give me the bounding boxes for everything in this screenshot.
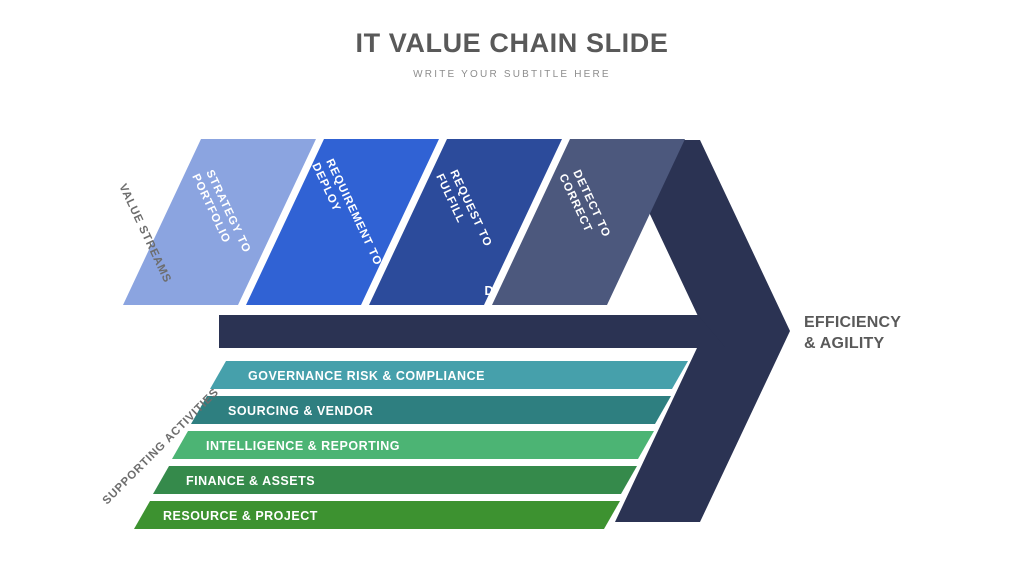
connector-arrow-bar: [219, 315, 725, 348]
supporting-activity-finance[interactable]: FINANCE & ASSETS: [153, 466, 637, 494]
value-chain-diagram: STRATEGY TO PORTFOLIO PLAN REQUIREMENT T…: [0, 0, 1024, 576]
supporting-activity-finance-label: FINANCE & ASSETS: [186, 474, 315, 488]
supporting-activity-intelligence-label: INTELLIGENCE & REPORTING: [206, 439, 400, 453]
supporting-activity-resource-label: RESOURCE & PROJECT: [163, 509, 318, 523]
supporting-activities-group: GOVERNANCE RISK & COMPLIANCE SOURCING & …: [134, 361, 688, 529]
supporting-activity-governance[interactable]: GOVERNANCE RISK & COMPLIANCE: [210, 361, 688, 389]
supporting-activity-intelligence[interactable]: INTELLIGENCE & REPORTING: [172, 431, 654, 459]
outcome-line-2: & AGILITY: [804, 333, 1004, 354]
slide-canvas: IT VALUE CHAIN SLIDE WRITE YOUR SUBTITLE…: [0, 0, 1024, 576]
outcome-label: EFFICIENCY & AGILITY: [804, 312, 1004, 354]
supporting-activity-governance-label: GOVERNANCE RISK & COMPLIANCE: [248, 369, 485, 383]
outcome-line-1: EFFICIENCY: [804, 312, 1004, 333]
value-streams-group: STRATEGY TO PORTFOLIO PLAN REQUIREMENT T…: [123, 139, 685, 305]
supporting-activity-sourcing-label: SOURCING & VENDOR: [228, 404, 373, 418]
supporting-activity-resource[interactable]: RESOURCE & PROJECT: [134, 501, 620, 529]
supporting-activity-sourcing[interactable]: SOURCING & VENDOR: [191, 396, 671, 424]
value-stream-run-stage: RUN: [623, 284, 652, 298]
